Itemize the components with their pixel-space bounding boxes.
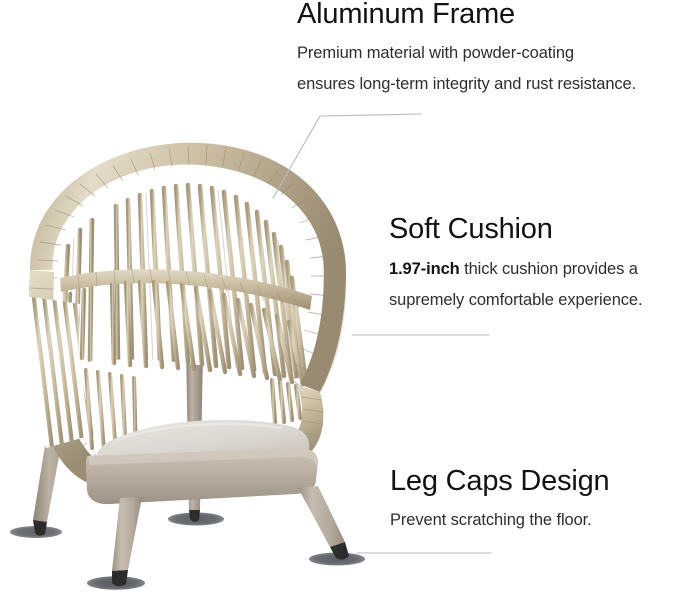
callout-body-leg-caps-design: Prevent scratching the floor. <box>390 505 679 536</box>
infographic-canvas: Aluminum Frame Premium material with pow… <box>0 0 679 599</box>
callout-body-line-1: Premium material with powder-coating <box>297 38 679 69</box>
callout-body-line-1: Prevent scratching the floor. <box>390 505 679 536</box>
callout-leg-caps-design: Leg Caps Design Prevent scratching the f… <box>390 464 679 536</box>
callout-soft-cushion: Soft Cushion 1.97-inch thick cushion pro… <box>389 212 679 316</box>
callout-body-line-1: 1.97-inch thick cushion provides a <box>389 254 679 285</box>
callout-body-line-1-rest: thick cushion provides a <box>460 260 638 278</box>
callout-body-line-2: ensures long-term integrity and rust res… <box>297 69 679 100</box>
callout-title-aluminum-frame: Aluminum Frame <box>297 0 679 31</box>
rope-weave-right-lower <box>272 380 300 423</box>
callout-body-aluminum-frame: Premium material with powder-coating ens… <box>297 38 679 100</box>
leg-front-left <box>112 497 142 571</box>
chair-svg <box>0 118 380 599</box>
callout-title-leg-caps-design: Leg Caps Design <box>390 464 679 498</box>
callout-aluminum-frame: Aluminum Frame Premium material with pow… <box>297 0 679 100</box>
callout-body-soft-cushion: 1.97-inch thick cushion provides a supre… <box>389 254 679 316</box>
callout-title-soft-cushion: Soft Cushion <box>389 212 679 246</box>
leg-cap-front-left <box>112 570 128 586</box>
leg-front-right <box>298 486 345 547</box>
chair-product-image <box>0 118 380 599</box>
callout-body-line-2: supremely comfortable experience. <box>389 285 679 316</box>
cushion-thickness-value: 1.97-inch <box>389 260 460 278</box>
seat-frame <box>86 448 318 504</box>
floor-shadows <box>10 513 365 590</box>
